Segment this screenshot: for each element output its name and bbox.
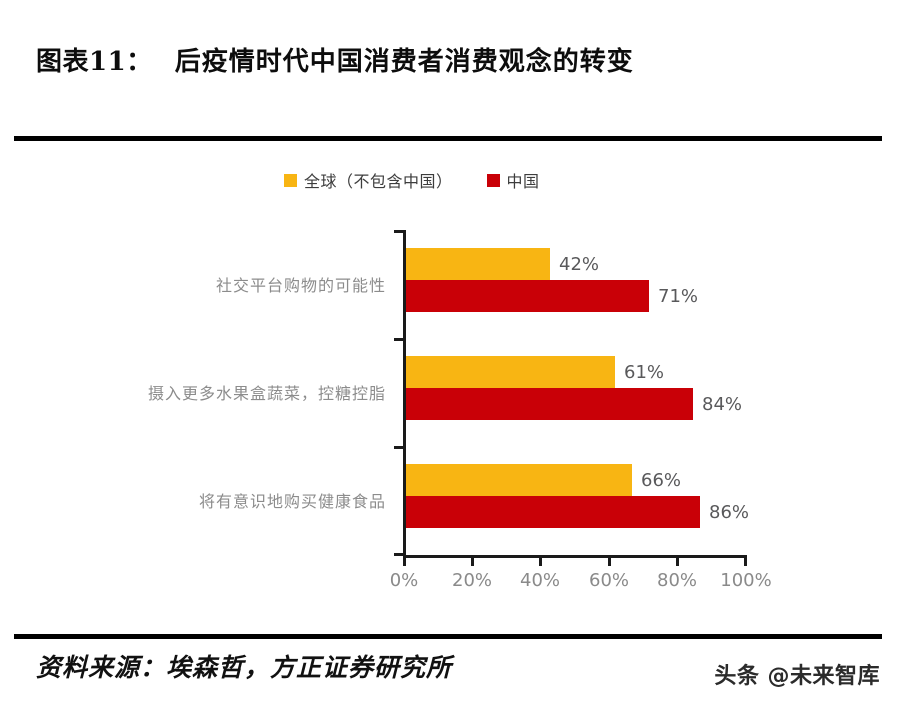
bar-row-china[interactable]: 84% [406,388,742,420]
bar-global[interactable] [406,464,632,496]
category-label: 社交平台购物的可能性 [216,272,386,296]
x-axis-line [403,555,747,558]
x-axis-tick-label: 20% [452,570,492,591]
page-title: 后疫情时代中国消费者消费观念的转变 [175,41,634,78]
figure-title: 图表11： 后疫情时代中国消费者消费观念的转变 [36,36,856,82]
chart-plot-area: 社交平台购物的可能性 42% 71% 摄入更多水果盒蔬菜，控糖控脂 61% 84… [60,228,860,558]
legend-label-global: 全球（不包含中国） [304,168,453,192]
bar-row-china[interactable]: 86% [406,496,749,528]
x-axis-tick-label: 0% [390,570,419,591]
legend-item-global[interactable]: 全球（不包含中国） [284,168,453,192]
x-axis-tick-label: 100% [720,570,771,591]
x-axis-tick [539,555,542,566]
bar-china[interactable] [406,280,649,312]
x-axis-tick-label: 80% [657,570,697,591]
x-axis-tick [744,555,747,566]
bar-group: 将有意识地购买健康食品 66% 86% [60,446,860,554]
bar-value-global: 66% [641,470,681,491]
source-note: 资料来源：埃森哲，方正证券研究所 [36,648,452,684]
x-axis-tick-label: 60% [589,570,629,591]
bar-value-global: 42% [559,254,599,275]
bar-group: 摄入更多水果盒蔬菜，控糖控脂 61% 84% [60,338,860,446]
x-axis-tick [608,555,611,566]
x-axis-tick [403,555,406,566]
title-divider-rule [14,136,882,141]
bar-china[interactable] [406,496,700,528]
bar-group: 社交平台购物的可能性 42% 71% [60,230,860,338]
legend-label-china: 中国 [507,168,540,192]
chart-legend: 全球（不包含中国） 中国 [284,168,540,192]
bar-row-global[interactable]: 66% [406,464,681,496]
legend-swatch-global-icon [284,174,297,187]
bar-value-china: 71% [658,286,698,307]
bar-row-global[interactable]: 42% [406,248,599,280]
bar-global[interactable] [406,248,550,280]
x-axis-tick [676,555,679,566]
legend-item-china[interactable]: 中国 [487,168,540,192]
bar-china[interactable] [406,388,693,420]
bar-row-china[interactable]: 71% [406,280,698,312]
bar-global[interactable] [406,356,615,388]
category-label: 将有意识地购买健康食品 [199,488,386,512]
figure-number: 图表11： [36,41,153,78]
x-axis-tick [471,555,474,566]
watermark: 头条 @未来智库 [714,658,880,690]
bar-value-china: 84% [702,394,742,415]
legend-swatch-china-icon [487,174,500,187]
bar-value-china: 86% [709,502,749,523]
footer-divider-rule [14,634,882,639]
bar-row-global[interactable]: 61% [406,356,664,388]
x-axis-tick-label: 40% [520,570,560,591]
bar-value-global: 61% [624,362,664,383]
category-label: 摄入更多水果盒蔬菜，控糖控脂 [148,380,386,404]
